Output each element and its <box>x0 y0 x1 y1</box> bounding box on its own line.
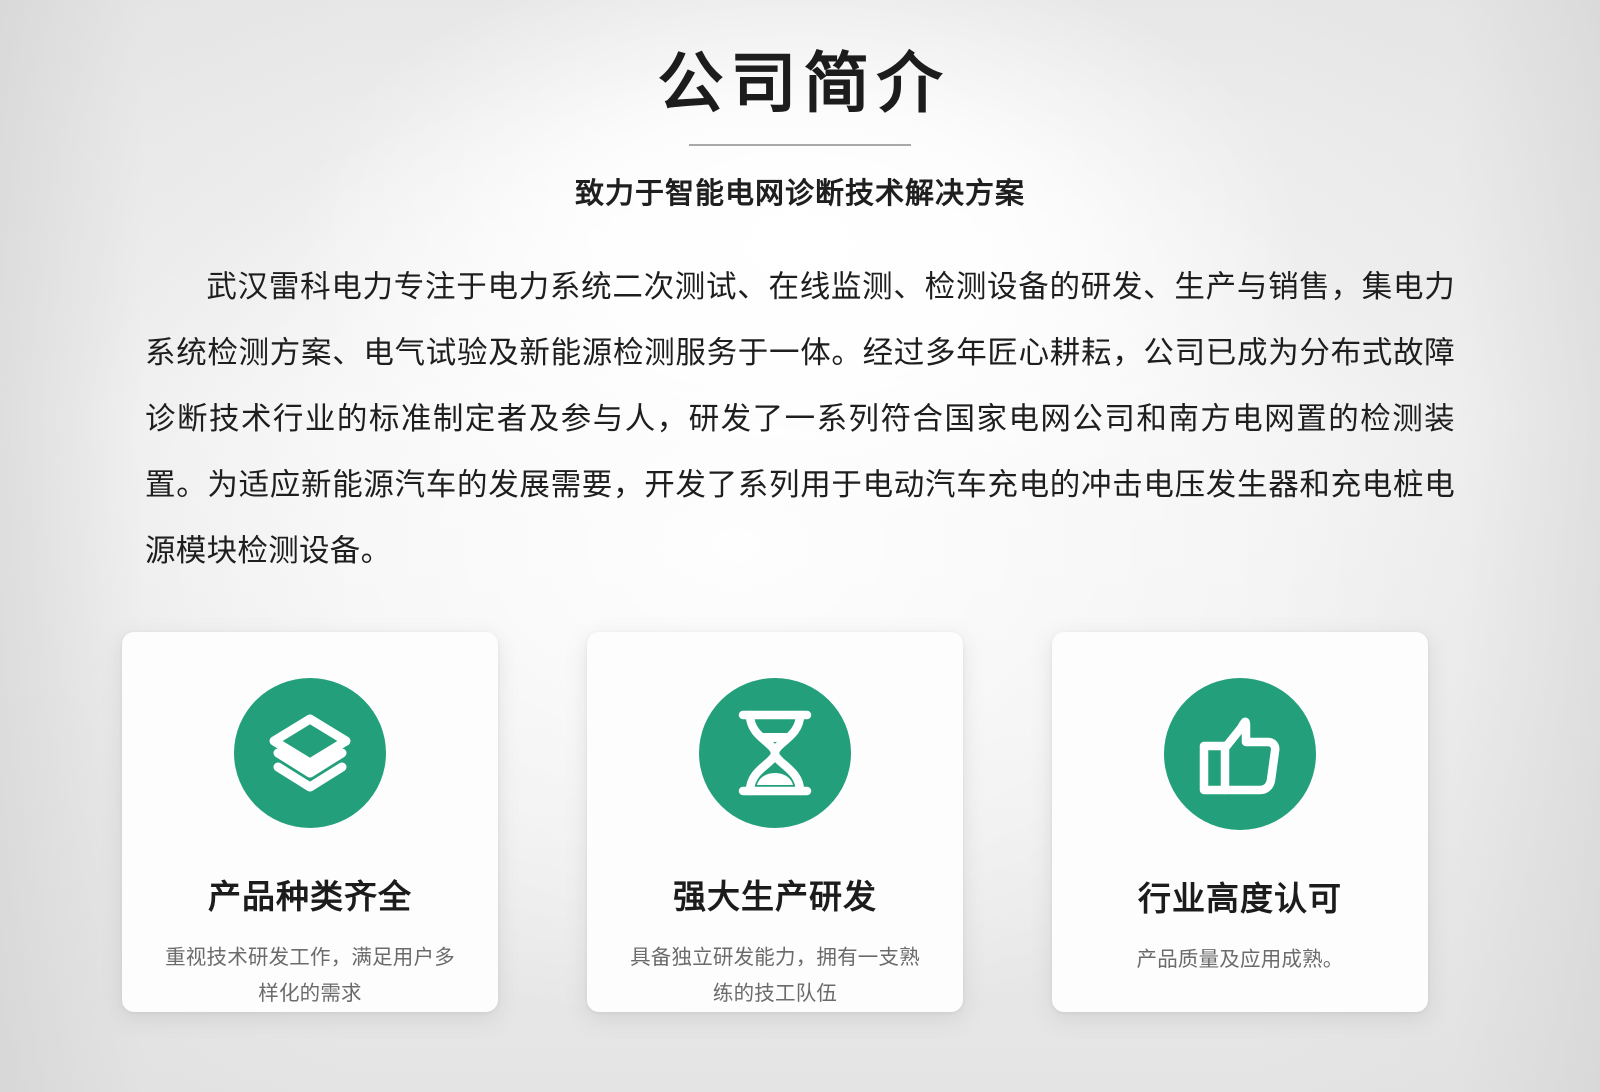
feature-card-products[interactable]: 产品种类齐全 重视技术研发工作，满足用户多样化的需求 <box>122 632 498 1012</box>
feature-card-list: 产品种类齐全 重视技术研发工作，满足用户多样化的需求 强大生产研发 具备独立研发… <box>122 632 1428 1012</box>
layers-icon <box>234 678 386 828</box>
page-subtitle: 致力于智能电网诊断技术解决方案 <box>0 170 1600 212</box>
feature-card-title: 强大生产研发 <box>673 870 877 918</box>
feature-card-desc: 产品质量及应用成熟。 <box>1090 942 1390 978</box>
company-intro-paragraph: 武汉雷科电力专注于电力系统二次测试、在线监测、检测设备的研发、生产与销售，集电力… <box>145 254 1455 584</box>
feature-card-rnd[interactable]: 强大生产研发 具备独立研发能力，拥有一支熟练的技工队伍 <box>587 632 963 1012</box>
feature-card-recognition[interactable]: 行业高度认可 产品质量及应用成熟。 <box>1052 632 1428 1012</box>
feature-card-desc: 重视技术研发工作，满足用户多样化的需求 <box>160 940 460 1012</box>
feature-card-title: 产品种类齐全 <box>208 870 412 918</box>
feature-card-desc: 具备独立研发能力，拥有一支熟练的技工队伍 <box>625 940 925 1012</box>
page-title: 公司简介 <box>0 46 1600 122</box>
company-profile-page: 公司简介 致力于智能电网诊断技术解决方案 武汉雷科电力专注于电力系统二次测试、在… <box>0 0 1600 1092</box>
title-divider <box>689 144 911 146</box>
intro-text: 武汉雷科电力专注于电力系统二次测试、在线监测、检测设备的研发、生产与销售，集电力… <box>145 270 1455 568</box>
hourglass-icon <box>699 678 851 828</box>
thumbs-up-icon <box>1164 678 1316 830</box>
page-header: 公司简介 致力于智能电网诊断技术解决方案 <box>0 0 1600 212</box>
feature-card-title: 行业高度认可 <box>1138 872 1342 920</box>
